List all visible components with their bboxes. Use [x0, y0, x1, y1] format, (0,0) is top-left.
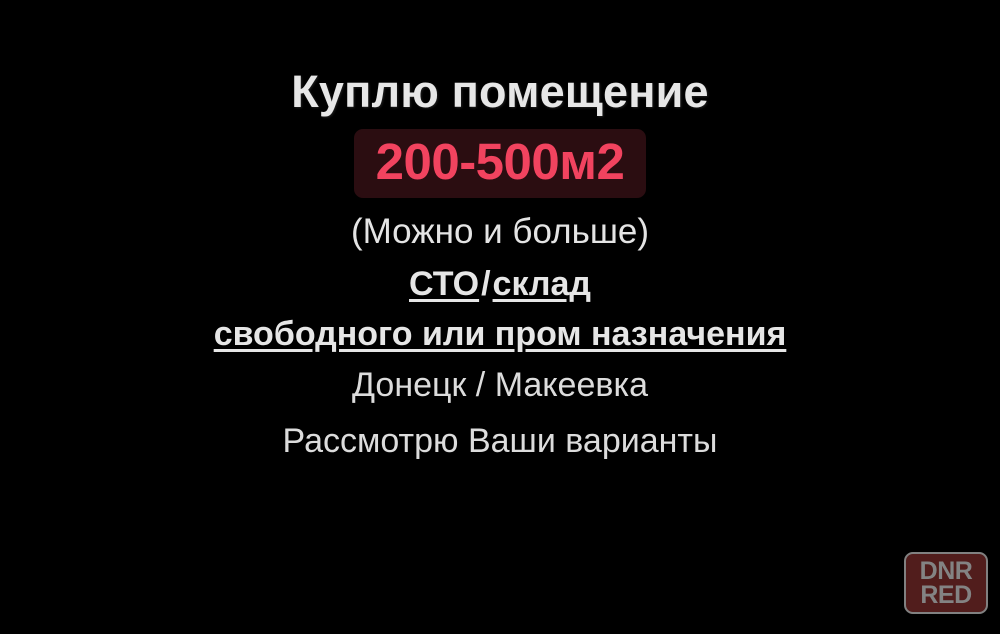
poster-closing-note: Рассмотрю Ваши варианты [283, 424, 718, 460]
property-purpose-text: свободного или пром назначения [214, 315, 787, 353]
size-badge: 200-500м2 [354, 129, 647, 198]
property-type-secondary: склад [493, 265, 591, 303]
poster-text-stack: Куплю помещение 200-500м2 (Можно и больш… [0, 0, 1000, 634]
size-badge-wrapper: 200-500м2 [354, 129, 647, 198]
property-type-primary: СТО [409, 265, 479, 303]
poster-sub-note: (Можно и больше) [351, 214, 649, 251]
dnr-red-watermark-logo: DNR RED [904, 552, 988, 614]
property-purpose-line: свободного или пром назначения [214, 317, 787, 353]
poster-locations: Донецк / Макеевка [352, 368, 648, 404]
property-type-separator: / [479, 265, 492, 303]
watermark-line-two: RED [920, 583, 971, 608]
property-types-line: СТО/склад [409, 267, 591, 303]
advertisement-poster: Куплю помещение 200-500м2 (Можно и больш… [0, 0, 1000, 634]
poster-headline: Куплю помещение [291, 68, 708, 115]
watermark-line-one: DNR [920, 559, 973, 584]
